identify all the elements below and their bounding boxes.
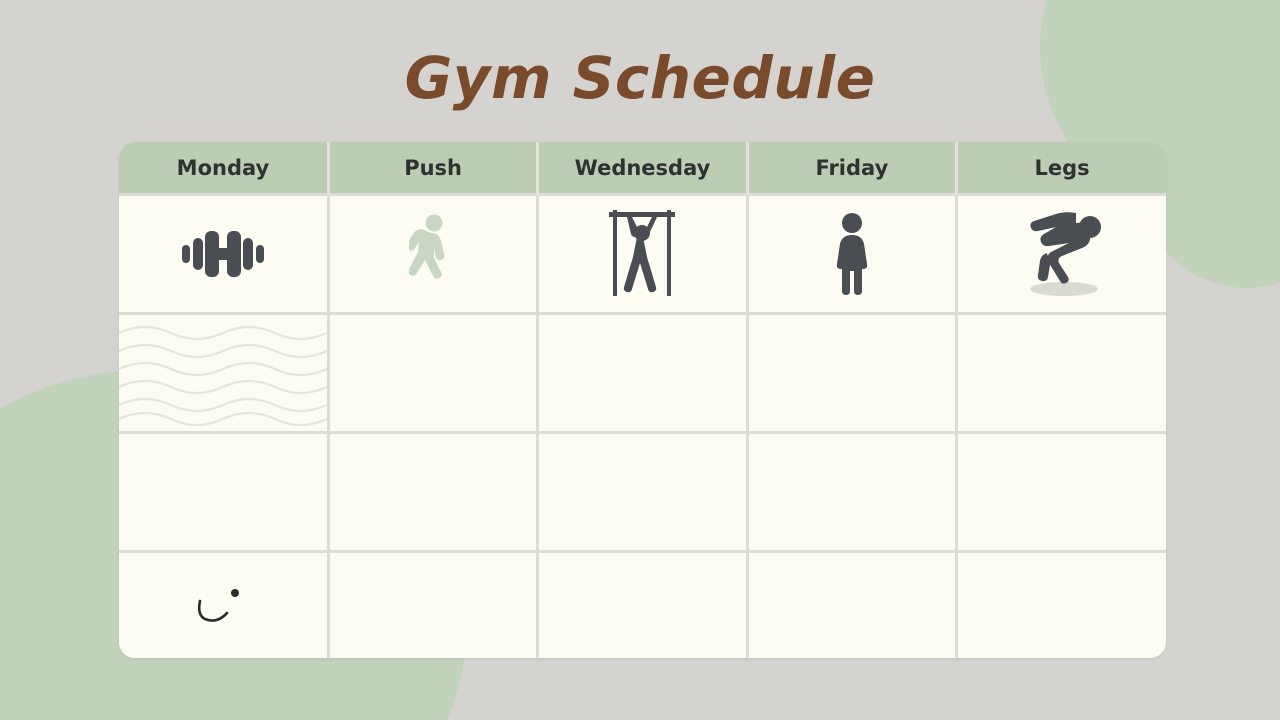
- cell-monday-3[interactable]: [119, 433, 328, 552]
- column-header-legs[interactable]: Legs: [957, 142, 1166, 195]
- cell-wednesday-1[interactable]: [538, 195, 747, 314]
- cell-friday-2[interactable]: [747, 314, 956, 433]
- column-header-friday[interactable]: Friday: [747, 142, 956, 195]
- cell-push-1[interactable]: [328, 195, 537, 314]
- dumbbell-icon: [119, 196, 327, 312]
- standing-person-icon: [749, 196, 955, 312]
- page-title: Gym Schedule: [0, 44, 1280, 112]
- pullup-bar-icon: [539, 196, 745, 312]
- cell-monday-1[interactable]: [119, 195, 328, 314]
- cell-legs-3[interactable]: [957, 433, 1166, 552]
- cell-legs-2[interactable]: [957, 314, 1166, 433]
- table-header-row: Monday Push Wednesday Friday Legs: [119, 142, 1166, 195]
- wavy-lines-decoration: [119, 315, 327, 431]
- cell-wednesday-2[interactable]: [538, 314, 747, 433]
- walking-person-icon: [330, 196, 536, 312]
- cell-wednesday-3[interactable]: [538, 433, 747, 552]
- column-header-monday[interactable]: Monday: [119, 142, 328, 195]
- table-row: [119, 314, 1166, 433]
- gym-schedule-table: Monday Push Wednesday Friday Legs: [119, 142, 1166, 658]
- cell-wednesday-4[interactable]: [538, 552, 747, 659]
- cell-monday-4[interactable]: [119, 552, 328, 659]
- table-row: [119, 552, 1166, 659]
- cell-friday-3[interactable]: [747, 433, 956, 552]
- sprinting-person-icon: [958, 196, 1166, 312]
- table-row: [119, 433, 1166, 552]
- column-header-push[interactable]: Push: [328, 142, 537, 195]
- cell-friday-1[interactable]: [747, 195, 956, 314]
- cell-push-3[interactable]: [328, 433, 537, 552]
- cell-monday-2[interactable]: [119, 314, 328, 433]
- column-header-wednesday[interactable]: Wednesday: [538, 142, 747, 195]
- swoosh-doodle-icon: [193, 582, 253, 640]
- cell-legs-1[interactable]: [957, 195, 1166, 314]
- cell-push-2[interactable]: [328, 314, 537, 433]
- table-row: [119, 195, 1166, 314]
- cell-friday-4[interactable]: [747, 552, 956, 659]
- cell-legs-4[interactable]: [957, 552, 1166, 659]
- cell-push-4[interactable]: [328, 552, 537, 659]
